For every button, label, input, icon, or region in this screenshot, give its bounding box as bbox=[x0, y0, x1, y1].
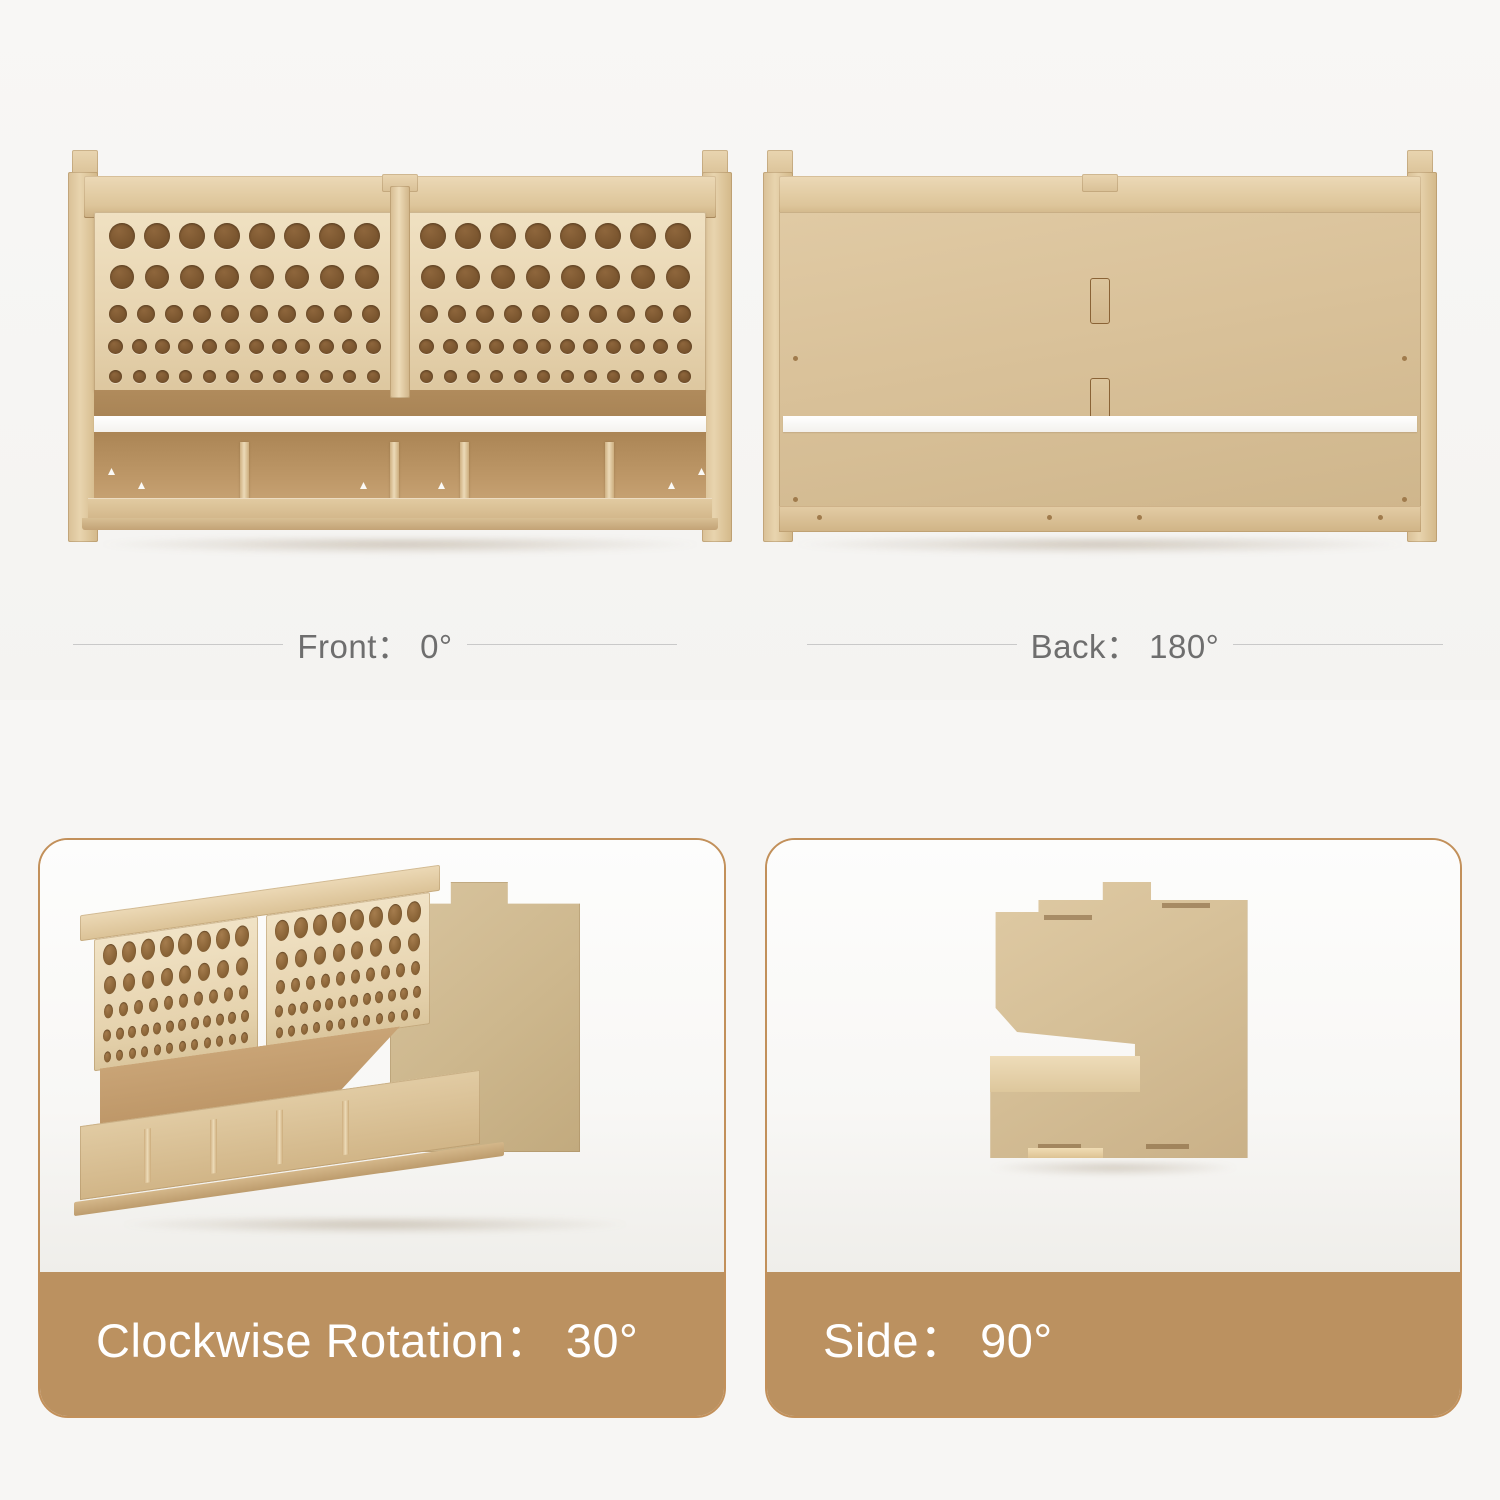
tool-hole bbox=[179, 964, 191, 984]
tool-hole bbox=[109, 305, 127, 323]
tool-hole bbox=[306, 305, 324, 323]
tool-hole bbox=[630, 223, 656, 249]
tool-hole bbox=[122, 940, 136, 963]
tool-hole bbox=[276, 951, 288, 971]
tool-hole bbox=[320, 265, 344, 289]
tool-hole bbox=[476, 305, 494, 323]
top-center-tab bbox=[1082, 174, 1118, 192]
hole-row bbox=[415, 339, 696, 354]
hole-row bbox=[104, 339, 385, 354]
tool-hole bbox=[338, 1018, 345, 1030]
tool-hole bbox=[203, 370, 216, 383]
tool-hole bbox=[313, 999, 321, 1012]
screw-hole bbox=[793, 497, 798, 502]
tool-hole bbox=[665, 223, 691, 249]
tool-hole bbox=[351, 940, 363, 960]
horizontal-slot bbox=[783, 416, 1417, 432]
joint-notch bbox=[1146, 1144, 1189, 1149]
tool-hole bbox=[241, 1032, 248, 1044]
tray-inner-face bbox=[990, 1056, 1140, 1092]
tool-hole bbox=[306, 975, 315, 990]
tool-hole bbox=[217, 959, 229, 979]
tool-hole bbox=[239, 985, 248, 1000]
tool-hole bbox=[351, 969, 360, 984]
tool-hole bbox=[514, 370, 527, 383]
tool-hole bbox=[276, 1027, 283, 1039]
tool-hole bbox=[250, 305, 268, 323]
side-profile-body bbox=[980, 870, 1248, 1170]
tool-hole bbox=[455, 223, 481, 249]
hole-panel-right bbox=[405, 212, 706, 392]
tool-hole bbox=[178, 339, 193, 354]
tool-hole bbox=[229, 1033, 236, 1045]
tool-hole bbox=[490, 370, 503, 383]
tool-hole bbox=[141, 938, 155, 961]
tool-hole bbox=[444, 370, 457, 383]
tool-hole bbox=[355, 265, 379, 289]
tool-hole bbox=[678, 370, 691, 383]
tool-hole bbox=[596, 265, 620, 289]
back-label-group: Back： 180° bbox=[750, 612, 1500, 676]
tool-hole bbox=[607, 370, 620, 383]
tool-hole bbox=[369, 906, 383, 929]
front-label-group: Front： 0° bbox=[0, 612, 750, 676]
tool-hole bbox=[561, 265, 585, 289]
tool-hole bbox=[389, 935, 401, 955]
tool-hole bbox=[448, 305, 466, 323]
tool-hole bbox=[413, 1007, 420, 1019]
tool-hole bbox=[164, 995, 173, 1010]
rotation-30-card: Clockwise Rotation： 30° bbox=[38, 838, 726, 1418]
tool-hole bbox=[342, 339, 357, 354]
tool-hole bbox=[226, 370, 239, 383]
rack-body bbox=[80, 865, 440, 1116]
tool-hole bbox=[537, 370, 550, 383]
tool-hole bbox=[116, 1049, 123, 1061]
tool-hole bbox=[560, 223, 586, 249]
tool-hole bbox=[319, 223, 345, 249]
tool-hole bbox=[250, 370, 263, 383]
tool-hole bbox=[198, 962, 210, 982]
screw-hole bbox=[1137, 515, 1142, 520]
tool-hole bbox=[467, 370, 480, 383]
tool-hole bbox=[273, 370, 286, 383]
lower-cavity bbox=[94, 432, 706, 506]
tool-hole bbox=[276, 979, 285, 994]
tool-hole bbox=[354, 223, 380, 249]
tool-hole bbox=[204, 1037, 211, 1049]
tool-hole bbox=[288, 1025, 295, 1037]
tool-hole bbox=[216, 1035, 223, 1047]
tool-hole bbox=[178, 1018, 186, 1031]
tool-hole bbox=[132, 339, 147, 354]
tool-hole bbox=[275, 1004, 283, 1017]
tool-hole bbox=[250, 265, 274, 289]
tool-hole bbox=[144, 223, 170, 249]
rack-side-profile bbox=[980, 870, 1248, 1170]
wall-mount-keyhole bbox=[1090, 278, 1110, 324]
tool-hole bbox=[160, 935, 174, 958]
tool-hole bbox=[420, 223, 446, 249]
tool-hole bbox=[321, 973, 330, 988]
back-view-label: Back： 180° bbox=[1031, 620, 1220, 668]
tool-hole bbox=[561, 305, 579, 323]
tool-hole bbox=[295, 339, 310, 354]
tool-hole bbox=[166, 1042, 173, 1054]
tool-hole bbox=[420, 370, 433, 383]
tool-hole bbox=[275, 919, 289, 942]
divider-line-right bbox=[467, 644, 677, 645]
tool-hole bbox=[109, 223, 135, 249]
joint-notch bbox=[1044, 915, 1092, 920]
tool-hole bbox=[366, 339, 381, 354]
tray-floor bbox=[88, 498, 712, 520]
tool-hole bbox=[191, 1016, 199, 1029]
tool-hole bbox=[666, 265, 690, 289]
tool-hole bbox=[326, 1020, 333, 1032]
hole-panel-left bbox=[94, 212, 395, 392]
tool-hole bbox=[408, 932, 420, 952]
divider-line-left bbox=[73, 644, 283, 645]
tool-hole bbox=[296, 370, 309, 383]
tool-hole bbox=[165, 305, 183, 323]
tool-hole bbox=[153, 1021, 161, 1034]
rack-back bbox=[755, 150, 1445, 550]
screw-hole bbox=[817, 515, 822, 520]
drop-shadow bbox=[101, 538, 699, 554]
tool-hole bbox=[443, 339, 458, 354]
tool-hole bbox=[560, 339, 575, 354]
bottom-rail bbox=[779, 506, 1421, 532]
tool-hole bbox=[278, 305, 296, 323]
tool-hole bbox=[584, 370, 597, 383]
tool-hole bbox=[388, 988, 396, 1001]
tool-hole bbox=[141, 1023, 149, 1036]
tool-hole bbox=[155, 339, 170, 354]
rotation-30-caption-bar: Clockwise Rotation： 30° bbox=[40, 1272, 724, 1416]
tool-hole bbox=[156, 370, 169, 383]
tool-hole bbox=[137, 305, 155, 323]
tool-hole bbox=[123, 972, 135, 992]
tool-hole bbox=[193, 305, 211, 323]
tool-hole bbox=[400, 987, 408, 1000]
tool-hole bbox=[285, 265, 309, 289]
tool-hole bbox=[489, 339, 504, 354]
tool-hole bbox=[583, 339, 598, 354]
tool-hole bbox=[320, 370, 333, 383]
base-foot bbox=[1028, 1148, 1103, 1158]
tool-hole bbox=[343, 370, 356, 383]
screw-hole bbox=[1047, 515, 1052, 520]
tool-hole bbox=[536, 339, 551, 354]
tool-hole bbox=[363, 1015, 370, 1027]
tool-hole bbox=[388, 903, 402, 926]
tool-hole bbox=[589, 305, 607, 323]
tool-hole bbox=[103, 1028, 111, 1041]
tool-hole bbox=[300, 1001, 308, 1014]
tool-hole bbox=[103, 943, 117, 966]
rotation-30-stage bbox=[40, 840, 724, 1274]
tool-hole bbox=[180, 265, 204, 289]
tool-hole bbox=[104, 1051, 111, 1063]
hole-row bbox=[415, 370, 696, 383]
tool-hole bbox=[351, 1016, 358, 1028]
tool-hole bbox=[104, 975, 116, 995]
tool-hole bbox=[513, 339, 528, 354]
tray-divider bbox=[144, 1128, 151, 1183]
screw-hole bbox=[1402, 356, 1407, 361]
drop-shadow bbox=[122, 1218, 628, 1234]
tool-hole bbox=[249, 223, 275, 249]
tool-hole bbox=[366, 967, 375, 982]
tool-hole bbox=[295, 948, 307, 968]
screw-hole bbox=[1378, 515, 1383, 520]
tool-hole bbox=[134, 999, 143, 1014]
view-label-row: Front： 0° Back： 180° bbox=[0, 612, 1500, 676]
hole-row bbox=[415, 305, 696, 323]
tool-hole bbox=[149, 997, 158, 1012]
tool-hole bbox=[288, 1002, 296, 1015]
tool-hole bbox=[388, 1011, 395, 1023]
tool-hole bbox=[104, 1004, 113, 1019]
tool-hole bbox=[350, 994, 358, 1007]
tool-hole bbox=[673, 305, 691, 323]
tool-hole bbox=[525, 223, 551, 249]
tool-hole bbox=[178, 933, 192, 956]
tool-hole bbox=[421, 265, 445, 289]
tool-hole bbox=[526, 265, 550, 289]
top-views-section: Front： 0° Back： 180° bbox=[0, 0, 1500, 700]
tool-hole bbox=[407, 900, 421, 923]
tool-hole bbox=[141, 1046, 148, 1058]
tool-hole bbox=[420, 305, 438, 323]
tool-hole bbox=[367, 370, 380, 383]
tool-hole bbox=[179, 370, 192, 383]
tray-divider bbox=[605, 442, 614, 506]
tool-hole bbox=[179, 223, 205, 249]
tool-hole bbox=[456, 265, 480, 289]
tray-divider bbox=[342, 1100, 349, 1155]
tool-hole bbox=[490, 223, 516, 249]
screw-hole bbox=[793, 356, 798, 361]
tool-hole bbox=[561, 370, 574, 383]
tool-hole bbox=[249, 339, 264, 354]
tool-hole bbox=[654, 370, 667, 383]
tool-hole bbox=[179, 993, 188, 1008]
tool-hole bbox=[202, 339, 217, 354]
back-view bbox=[755, 150, 1445, 550]
tool-hole bbox=[235, 925, 249, 948]
hole-panel-left bbox=[94, 916, 258, 1071]
tool-hole bbox=[197, 930, 211, 953]
tool-hole bbox=[214, 223, 240, 249]
rotation-30-caption-text: Clockwise Rotation： 30° bbox=[96, 1302, 638, 1371]
drop-shadow bbox=[990, 1162, 1237, 1176]
hole-row bbox=[104, 265, 385, 289]
tool-hole bbox=[319, 339, 334, 354]
tool-hole bbox=[236, 956, 248, 976]
tool-hole bbox=[225, 339, 240, 354]
tool-hole bbox=[129, 1047, 136, 1059]
side-90-stage bbox=[767, 840, 1460, 1274]
hole-row bbox=[104, 223, 385, 249]
front-view-label: Front： 0° bbox=[297, 620, 452, 668]
tool-hole bbox=[291, 977, 300, 992]
tool-hole bbox=[677, 339, 692, 354]
tool-hole bbox=[119, 1002, 128, 1017]
tool-hole bbox=[336, 971, 345, 986]
tool-hole bbox=[645, 305, 663, 323]
tool-hole bbox=[128, 1025, 136, 1038]
tool-hole bbox=[313, 1022, 320, 1034]
tool-hole bbox=[216, 927, 230, 950]
tool-hole bbox=[362, 305, 380, 323]
tool-hole bbox=[216, 1013, 224, 1026]
tool-hole bbox=[491, 265, 515, 289]
tool-hole bbox=[653, 339, 668, 354]
hole-row bbox=[104, 305, 385, 323]
screw-hole bbox=[1402, 497, 1407, 502]
hole-panel-right bbox=[266, 892, 430, 1047]
tool-hole bbox=[301, 1023, 308, 1035]
tool-hole bbox=[154, 1044, 161, 1056]
tool-hole bbox=[215, 265, 239, 289]
tool-hole bbox=[334, 305, 352, 323]
tray-divider bbox=[276, 1110, 283, 1165]
tool-hole bbox=[116, 1027, 124, 1040]
right-side-panel bbox=[702, 172, 732, 542]
tool-hole bbox=[203, 1014, 211, 1027]
tool-hole bbox=[161, 967, 173, 987]
tool-hole bbox=[313, 914, 327, 937]
horizontal-slot bbox=[94, 416, 706, 432]
hole-row bbox=[415, 223, 696, 249]
rack-front bbox=[60, 150, 740, 550]
tool-hole bbox=[419, 339, 434, 354]
tool-hole bbox=[376, 1013, 383, 1025]
tool-hole bbox=[228, 1011, 236, 1024]
tool-hole bbox=[504, 305, 522, 323]
tool-hole bbox=[631, 265, 655, 289]
tool-hole bbox=[221, 305, 239, 323]
bottom-views-section: Clockwise Rotation： 30° Side： 90° bbox=[0, 700, 1500, 1500]
front-view bbox=[60, 150, 740, 550]
tool-hole bbox=[532, 305, 550, 323]
tool-hole bbox=[108, 339, 123, 354]
rack-rotated-30 bbox=[80, 860, 580, 1190]
tool-hole bbox=[350, 908, 364, 931]
tool-hole bbox=[396, 963, 405, 978]
back-board bbox=[779, 212, 1421, 510]
tool-hole bbox=[630, 339, 645, 354]
tool-hole bbox=[110, 265, 134, 289]
hole-row bbox=[104, 370, 385, 383]
tool-hole bbox=[314, 945, 326, 965]
tool-hole bbox=[179, 1040, 186, 1052]
center-divider-post bbox=[390, 186, 410, 398]
tool-hole bbox=[466, 339, 481, 354]
tool-hole bbox=[294, 916, 308, 939]
tool-hole bbox=[209, 989, 218, 1004]
tool-hole bbox=[194, 991, 203, 1006]
tool-hole bbox=[241, 1009, 249, 1022]
hole-row bbox=[415, 265, 696, 289]
tool-hole bbox=[224, 987, 233, 1002]
tray-divider bbox=[210, 1119, 217, 1174]
tool-hole bbox=[370, 937, 382, 957]
tool-hole bbox=[617, 305, 635, 323]
joint-notch bbox=[1162, 903, 1210, 908]
tool-hole bbox=[142, 969, 154, 989]
tool-hole bbox=[401, 1009, 408, 1021]
divider-line-right bbox=[1233, 644, 1443, 645]
tool-hole bbox=[631, 370, 644, 383]
tool-hole bbox=[338, 995, 346, 1008]
tool-hole bbox=[109, 370, 122, 383]
tool-hole bbox=[284, 223, 310, 249]
tool-hole bbox=[333, 943, 345, 963]
drop-shadow bbox=[796, 538, 1403, 554]
tool-hole bbox=[381, 965, 390, 980]
side-90-caption-bar: Side： 90° bbox=[767, 1272, 1460, 1416]
divider-line-left bbox=[807, 644, 1017, 645]
side-90-caption-text: Side： 90° bbox=[823, 1302, 1053, 1371]
tool-hole bbox=[133, 370, 146, 383]
tool-hole bbox=[325, 997, 333, 1010]
tool-hole bbox=[375, 990, 383, 1003]
tool-hole bbox=[363, 992, 371, 1005]
tool-hole bbox=[332, 911, 346, 934]
tool-hole bbox=[191, 1039, 198, 1051]
tray-divider bbox=[390, 442, 399, 506]
base-edge bbox=[82, 518, 718, 530]
tool-hole bbox=[272, 339, 287, 354]
tray-divider bbox=[240, 442, 249, 506]
tool-hole bbox=[606, 339, 621, 354]
tool-hole bbox=[595, 223, 621, 249]
tool-hole bbox=[413, 985, 421, 998]
tool-hole bbox=[145, 265, 169, 289]
tool-hole bbox=[411, 961, 420, 976]
tool-hole bbox=[166, 1020, 174, 1033]
side-90-card: Side： 90° bbox=[765, 838, 1462, 1418]
tray-divider bbox=[460, 442, 469, 506]
